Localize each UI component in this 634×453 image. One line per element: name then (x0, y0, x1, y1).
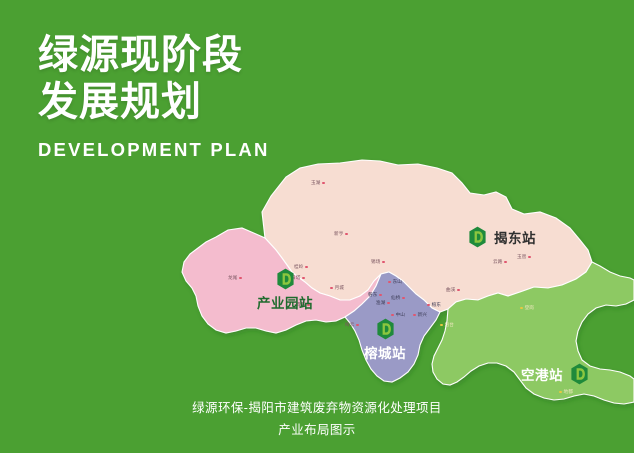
town-label: 曲溪 (446, 287, 460, 293)
town-dot-icon (427, 304, 430, 307)
town-label: 玉窖 (517, 254, 531, 260)
town-label: 玉湖 (311, 180, 325, 186)
town-label: 榕东 (427, 302, 441, 308)
town-label-text: 龙尾 (228, 275, 237, 281)
town-label: 地都 (559, 389, 573, 395)
town-dot-icon (559, 391, 562, 394)
town-dot-icon (528, 256, 531, 259)
town-label: 锡场 (371, 259, 385, 265)
town-label-text: 锡场 (371, 259, 380, 265)
town-label-text: 月城 (335, 285, 344, 291)
station-label-chanyeyuan: 产业园站 (257, 292, 313, 312)
town-label-text: 磐东 (368, 292, 377, 298)
town-dot-icon (391, 314, 394, 317)
station-label-rongcheng: 榕城站 (364, 342, 406, 362)
caption-line-2: 产业布局图示 (0, 420, 634, 442)
town-label: 东山 (388, 279, 402, 285)
town-label: 梅云 (345, 322, 359, 328)
town-label-text: 地都 (564, 389, 573, 395)
town-dot-icon (322, 182, 325, 185)
town-label: 登岗 (520, 305, 534, 311)
town-label: 新亨 (334, 231, 348, 237)
town-dot-icon (330, 287, 333, 290)
town-label: 仙桥 (391, 295, 405, 301)
town-dot-icon (413, 314, 416, 317)
page-subtitle: DEVELOPMENT PLAN (38, 139, 368, 161)
caption-block: 绿源环保-揭阳市建筑废弃物资源化处理项目 产业布局图示 (0, 398, 634, 441)
town-label: 云路 (493, 259, 507, 265)
town-dot-icon (345, 233, 348, 236)
caption-line-1: 绿源环保-揭阳市建筑废弃物资源化处理项目 (0, 398, 634, 420)
green-hexagon-logo-icon (376, 318, 395, 340)
station-marker-konggang[interactable]: 空港站 (521, 363, 589, 385)
green-hexagon-logo-icon (570, 363, 589, 385)
green-hexagon-logo-icon (468, 226, 487, 248)
title-block: 绿源现阶段 发展规划 DEVELOPMENT PLAN (38, 32, 368, 161)
town-label-text: 玉窖 (517, 254, 526, 260)
town-dot-icon (387, 302, 390, 305)
town-label: 龙尾 (228, 275, 242, 281)
town-label-text: 仙桥 (391, 295, 400, 301)
town-label-text: 梅云 (345, 322, 354, 328)
town-dot-icon (388, 281, 391, 284)
town-label-text: 云路 (493, 259, 502, 265)
town-label-text: 渔湖 (376, 300, 385, 306)
town-label: 新兴 (413, 312, 427, 318)
town-label-text: 炮台 (445, 322, 454, 328)
town-dot-icon (402, 297, 405, 300)
town-label-text: 东山 (393, 279, 402, 285)
town-label-text: 榕东 (432, 302, 441, 308)
slide-canvas: 玉湖新亨锡场云路玉窖曲溪桂岭龙尾白塔月城霖磐梅云磐东渔湖仙桥东山中山新兴榕东炮台… (0, 0, 634, 453)
station-marker-jiedong[interactable]: 揭东站 (468, 226, 536, 248)
town-dot-icon (382, 261, 385, 264)
town-dot-icon (379, 294, 382, 297)
town-dot-icon (457, 289, 460, 292)
page-title-line-1: 绿源现阶段 (38, 32, 368, 79)
station-marker-rongcheng[interactable]: 榕城站 (364, 318, 406, 362)
green-hexagon-logo-icon (276, 268, 295, 290)
town-label-text: 曲溪 (446, 287, 455, 293)
town-label-text: 玉湖 (311, 180, 320, 186)
town-dot-icon (440, 324, 443, 327)
station-label-jiedong: 揭东站 (494, 227, 536, 247)
town-dot-icon (356, 324, 359, 327)
station-label-konggang: 空港站 (521, 364, 563, 384)
town-label-text: 新亨 (334, 231, 343, 237)
town-label-text: 登岗 (525, 305, 534, 311)
town-label: 磐东 (368, 292, 382, 298)
town-label: 渔湖 (376, 300, 390, 306)
town-dot-icon (239, 277, 242, 280)
town-dot-icon (520, 307, 523, 310)
town-label: 月城 (330, 285, 344, 291)
town-label: 炮台 (440, 322, 454, 328)
station-marker-chanyeyuan[interactable]: 产业园站 (257, 268, 313, 312)
town-label-text: 新兴 (418, 312, 427, 318)
town-dot-icon (504, 261, 507, 264)
page-title-line-2: 发展规划 (38, 79, 368, 126)
